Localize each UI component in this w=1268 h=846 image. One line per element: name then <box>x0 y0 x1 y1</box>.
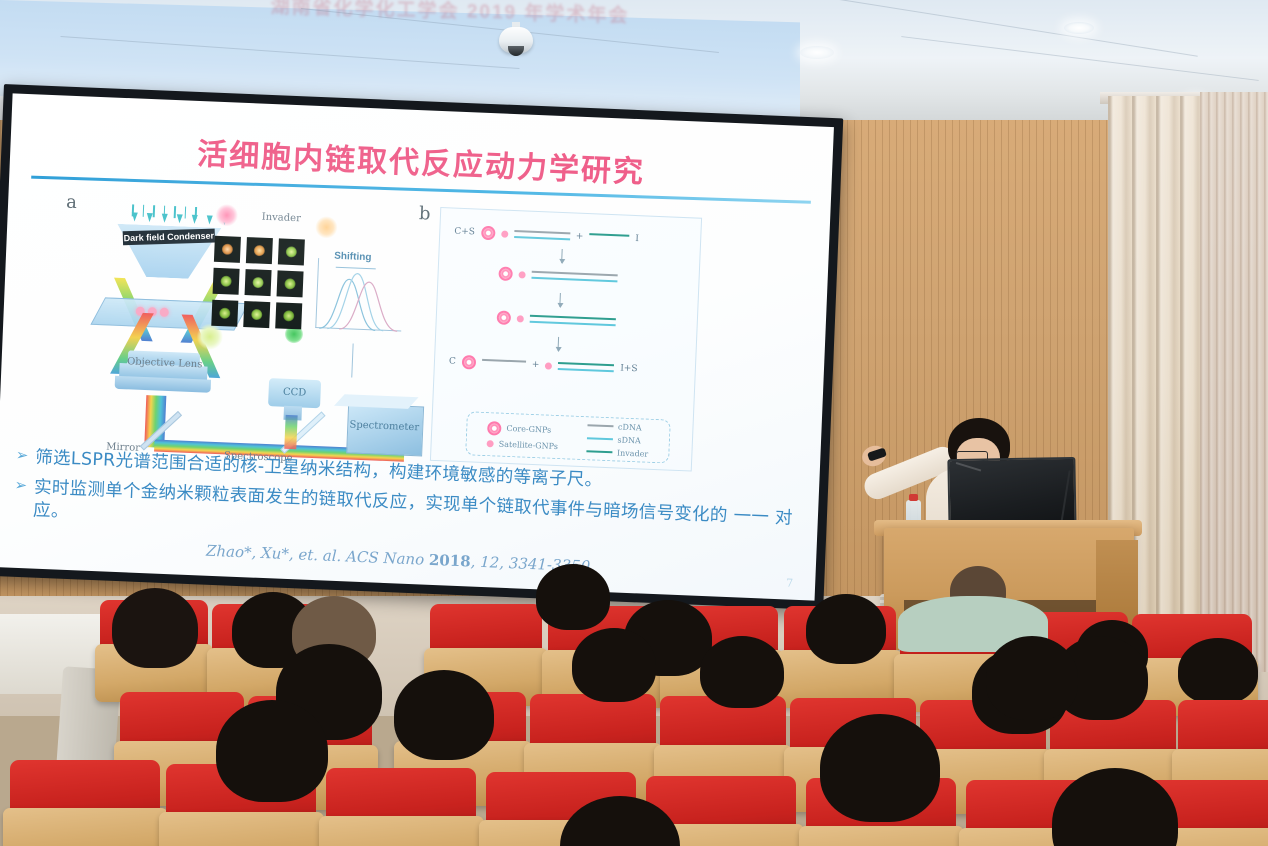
legend-label: Invader <box>617 448 649 458</box>
legend-label: sDNA <box>617 435 641 445</box>
darkfield-image-grid <box>211 236 305 330</box>
citation-authors: Zhao*, Xu*, et. al. <box>206 542 342 566</box>
legend-item-satellite-gnps: Satellite-GNPs <box>487 439 559 451</box>
legend-item-invader: Invader <box>586 447 649 459</box>
satellite-gnp-icon <box>487 440 494 447</box>
bullet-marker-icon: ➢ <box>13 475 28 523</box>
grid-cell <box>211 300 238 327</box>
downlight <box>1064 22 1094 34</box>
curtain-right-panel <box>1200 92 1268 672</box>
core-gnp-icon <box>487 421 502 436</box>
legend-item-sdna: sDNA <box>586 434 649 446</box>
product-label-is: I+S <box>620 364 638 375</box>
camera-lens <box>508 46 524 56</box>
spectrum-shift-plot: Shifting <box>309 254 408 338</box>
core-strand <box>482 358 526 369</box>
grid-cell <box>213 268 240 295</box>
reaction-arrow-1-icon <box>561 249 563 263</box>
legend-label: Core-GNPs <box>506 424 551 435</box>
ccd-camera: CCD <box>268 378 321 408</box>
core-gnp-icon <box>497 310 512 325</box>
audience-head <box>820 714 940 822</box>
invader-strand <box>589 233 629 244</box>
invader-burst-icon <box>315 216 338 239</box>
panel-b: b C+S + I <box>430 207 702 472</box>
condenser-label: Dark field Condenser <box>123 229 215 246</box>
citation-journal: ACS Nano <box>346 547 425 568</box>
legend-label: Satellite-GNPs <box>499 439 559 450</box>
seat <box>10 760 160 846</box>
reaction-arrow-3-icon <box>558 337 560 351</box>
panel-a-letter: a <box>66 192 78 213</box>
satellite-gnp-icon <box>517 315 524 322</box>
slide-page-number: 7 <box>786 576 794 589</box>
satellite-gnp-icon <box>501 230 508 237</box>
spectrum-curves <box>309 254 408 338</box>
ceiling-seam <box>822 0 1197 57</box>
auditorium-photo: 湖南省化学化工学会 2019 年学术年会 活细胞内链取代反应动力学研究 a <box>0 0 1268 846</box>
satellite-gnp-icon <box>545 362 552 369</box>
grid-cell <box>275 302 302 329</box>
audience-head <box>572 628 656 702</box>
grid-cell <box>246 237 273 264</box>
downlight <box>800 46 834 59</box>
invader-line-icon <box>586 450 612 453</box>
product-burst-icon <box>196 323 223 350</box>
reaction-step-2 <box>498 266 617 285</box>
illumination-arrows-icon <box>131 212 227 225</box>
ccd-beam <box>284 415 297 449</box>
presentation-slide: 活细胞内链取代反应动力学研究 a Dark field Condenser <box>0 93 834 600</box>
audience-head <box>806 594 886 664</box>
reactant-label-cs: C+S <box>454 227 475 238</box>
legend-markers-column: Core-GNPs Satellite-GNPs <box>487 421 559 451</box>
released-duplex <box>558 361 614 372</box>
reaction-step-1: C+S + I <box>454 225 639 247</box>
audience-head <box>394 670 494 760</box>
satellite-gnp-icon <box>518 271 525 278</box>
panel-a: a Dark field Condenser <box>56 192 416 456</box>
ceiling-seam <box>901 36 1258 81</box>
audience-head <box>700 636 784 708</box>
projection-screen-assembly: 活细胞内链取代反应动力学研究 a Dark field Condenser <box>0 84 843 618</box>
invader-label: Invader <box>262 212 302 225</box>
reaction-arrow-2-icon <box>559 293 561 307</box>
cdna-line-icon <box>587 424 613 427</box>
citation-volume: 12 <box>480 553 500 572</box>
audience-head <box>1178 638 1258 704</box>
reaction-step-3 <box>497 310 616 329</box>
seat <box>326 768 476 846</box>
legend-item-cdna: cDNA <box>587 421 650 433</box>
core-gnp-icon <box>481 226 496 241</box>
audience-head <box>536 564 610 630</box>
branch-migration-complex <box>531 270 617 283</box>
dome-security-camera <box>499 22 533 62</box>
projection-screen: 活细胞内链取代反应动力学研究 a Dark field Condenser <box>0 93 834 600</box>
panel-b-letter: b <box>419 203 431 224</box>
grid-cell <box>243 301 270 328</box>
reaction-step-4: C + I+S <box>449 354 638 376</box>
legend-lines-column: cDNA sDNA Invader <box>586 421 650 459</box>
grid-cell <box>214 236 241 263</box>
citation-year: 2018 <box>429 551 471 571</box>
plot-feed-arrow-icon <box>351 344 353 378</box>
plus-sign: + <box>532 360 540 370</box>
grid-cell <box>277 270 304 297</box>
legend-label: cDNA <box>618 422 642 432</box>
invader-burst-icon <box>215 204 238 227</box>
sdna-line-icon <box>587 437 613 440</box>
core-gnp-icon <box>462 355 477 370</box>
grid-cell <box>278 238 305 265</box>
plus-sign: + <box>576 232 584 242</box>
legend-item-core-gnps: Core-GNPs <box>487 421 559 438</box>
bullet-marker-icon: ➢ <box>15 446 29 470</box>
audience-head <box>112 588 198 668</box>
reactant-label-i: I <box>635 234 639 244</box>
product-label-c: C <box>449 356 456 366</box>
panel-b-legend: Core-GNPs Satellite-GNPs cDNA <box>465 411 671 463</box>
core-gnp-icon <box>498 266 513 281</box>
grid-cell <box>245 269 272 296</box>
audience-head <box>216 700 328 802</box>
audience-head <box>986 636 1078 720</box>
dna-duplex <box>514 230 570 241</box>
displacement-complex <box>530 314 616 327</box>
